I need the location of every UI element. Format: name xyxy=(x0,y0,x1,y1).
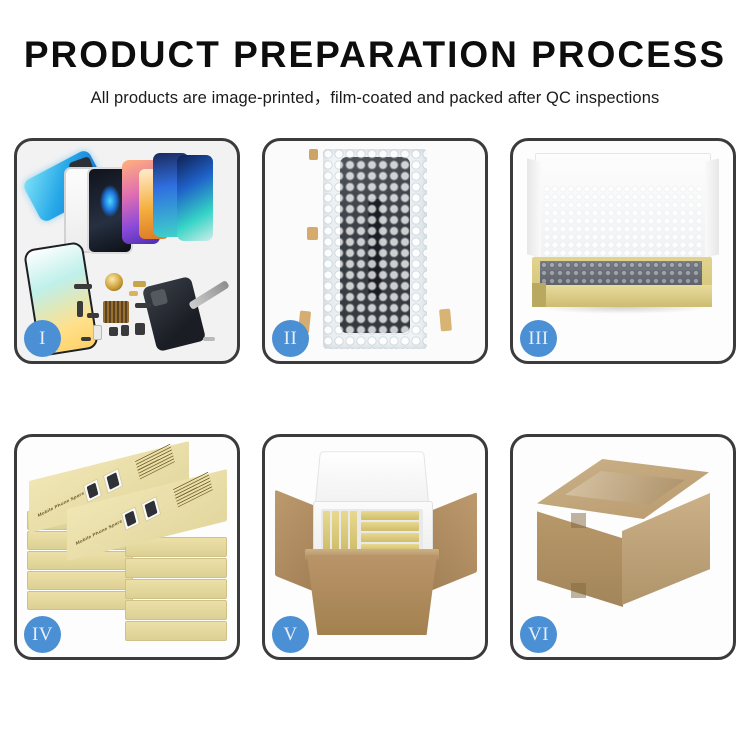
box-edge-r3 xyxy=(125,579,227,599)
box-label-phone-1a xyxy=(87,483,99,499)
part-chip-1 xyxy=(74,284,92,289)
box-edge-r5 xyxy=(125,621,227,641)
box-label-phone-1b xyxy=(106,472,119,490)
box-label-window-2a xyxy=(121,506,140,531)
step-badge-2: II xyxy=(272,320,309,357)
part-chip-10 xyxy=(135,323,145,335)
step-badge-4: IV xyxy=(24,616,61,653)
part-chip-4 xyxy=(77,301,83,317)
yellow-box-5 xyxy=(361,511,419,520)
phone-back-housing-icon xyxy=(142,276,206,352)
yellow-box-2 xyxy=(332,511,339,551)
page-title: PRODUCT PREPARATION PROCESS xyxy=(0,36,750,75)
part-chip-5 xyxy=(87,313,99,318)
step-badge-3: III xyxy=(520,320,557,357)
part-chip-11 xyxy=(81,337,91,341)
step-panel-1[interactable]: I xyxy=(14,138,240,364)
part-chip-8 xyxy=(121,325,129,336)
step-panel-4[interactable]: Mobile Phone Spare Parts Mobile Phone Sp… xyxy=(14,434,240,660)
box-label-lines-1 xyxy=(135,444,175,480)
step-badge-1: I xyxy=(24,320,61,357)
box-label-phone-2a xyxy=(125,511,137,527)
mailer-side-tab xyxy=(532,283,546,307)
product-preparation-infographic: PRODUCT PREPARATION PROCESS All products… xyxy=(0,0,750,750)
step-badge-6: VI xyxy=(520,616,557,653)
foam-sheet xyxy=(543,185,701,259)
box-edge-r4 xyxy=(125,600,227,620)
part-chip-12 xyxy=(203,337,215,341)
box-label-window-1a xyxy=(83,478,102,503)
part-chip-2 xyxy=(133,281,146,287)
speaker-coil-icon xyxy=(105,273,123,291)
carton-tape-mark-bottom xyxy=(571,583,586,598)
tape-tab-bottom-right xyxy=(439,309,452,332)
yellow-box-1 xyxy=(323,511,330,551)
process-steps-grid: I II xyxy=(14,138,736,660)
phone-gradient-icon xyxy=(177,155,213,241)
yellow-box-6 xyxy=(361,522,419,531)
step-panel-6[interactable]: VI xyxy=(510,434,736,660)
box-label-window-1b xyxy=(103,468,123,494)
part-chip-9 xyxy=(93,325,102,340)
step-badge-5: V xyxy=(272,616,309,653)
step-panel-5[interactable]: V xyxy=(262,434,488,660)
tape-tab-middle xyxy=(307,227,318,240)
box-edge-r2 xyxy=(125,558,227,578)
yellow-box-3 xyxy=(341,511,348,551)
page-subtitle: All products are image-printed，film-coat… xyxy=(0,84,750,108)
yellow-box-7 xyxy=(361,533,419,542)
yellow-box-4 xyxy=(350,511,357,551)
box-stack: Mobile Phone Spare Parts Mobile Phone Sp… xyxy=(25,455,229,643)
box-label-phone-2b xyxy=(144,500,157,518)
carton-body xyxy=(307,555,437,635)
step-panel-3[interactable]: III xyxy=(510,138,736,364)
part-chip-3 xyxy=(129,291,138,296)
box-label-window-2b xyxy=(141,496,161,522)
logic-board-icon xyxy=(103,301,129,323)
step-panel-2[interactable]: II xyxy=(262,138,488,364)
mailer-front-wall xyxy=(532,285,712,307)
box-edge-l5 xyxy=(27,591,133,610)
box-edge-l4 xyxy=(27,571,133,590)
header: PRODUCT PREPARATION PROCESS All products… xyxy=(0,0,750,108)
tape-tab-top xyxy=(309,149,318,160)
flex-cable xyxy=(369,199,382,299)
carton-tape-mark-top xyxy=(571,513,586,528)
foam-box-contents xyxy=(321,509,423,553)
bubble-wrap-filling xyxy=(540,261,702,287)
drop-shadow xyxy=(535,307,711,314)
part-chip-7 xyxy=(109,327,118,336)
part-chip-6 xyxy=(135,303,151,308)
